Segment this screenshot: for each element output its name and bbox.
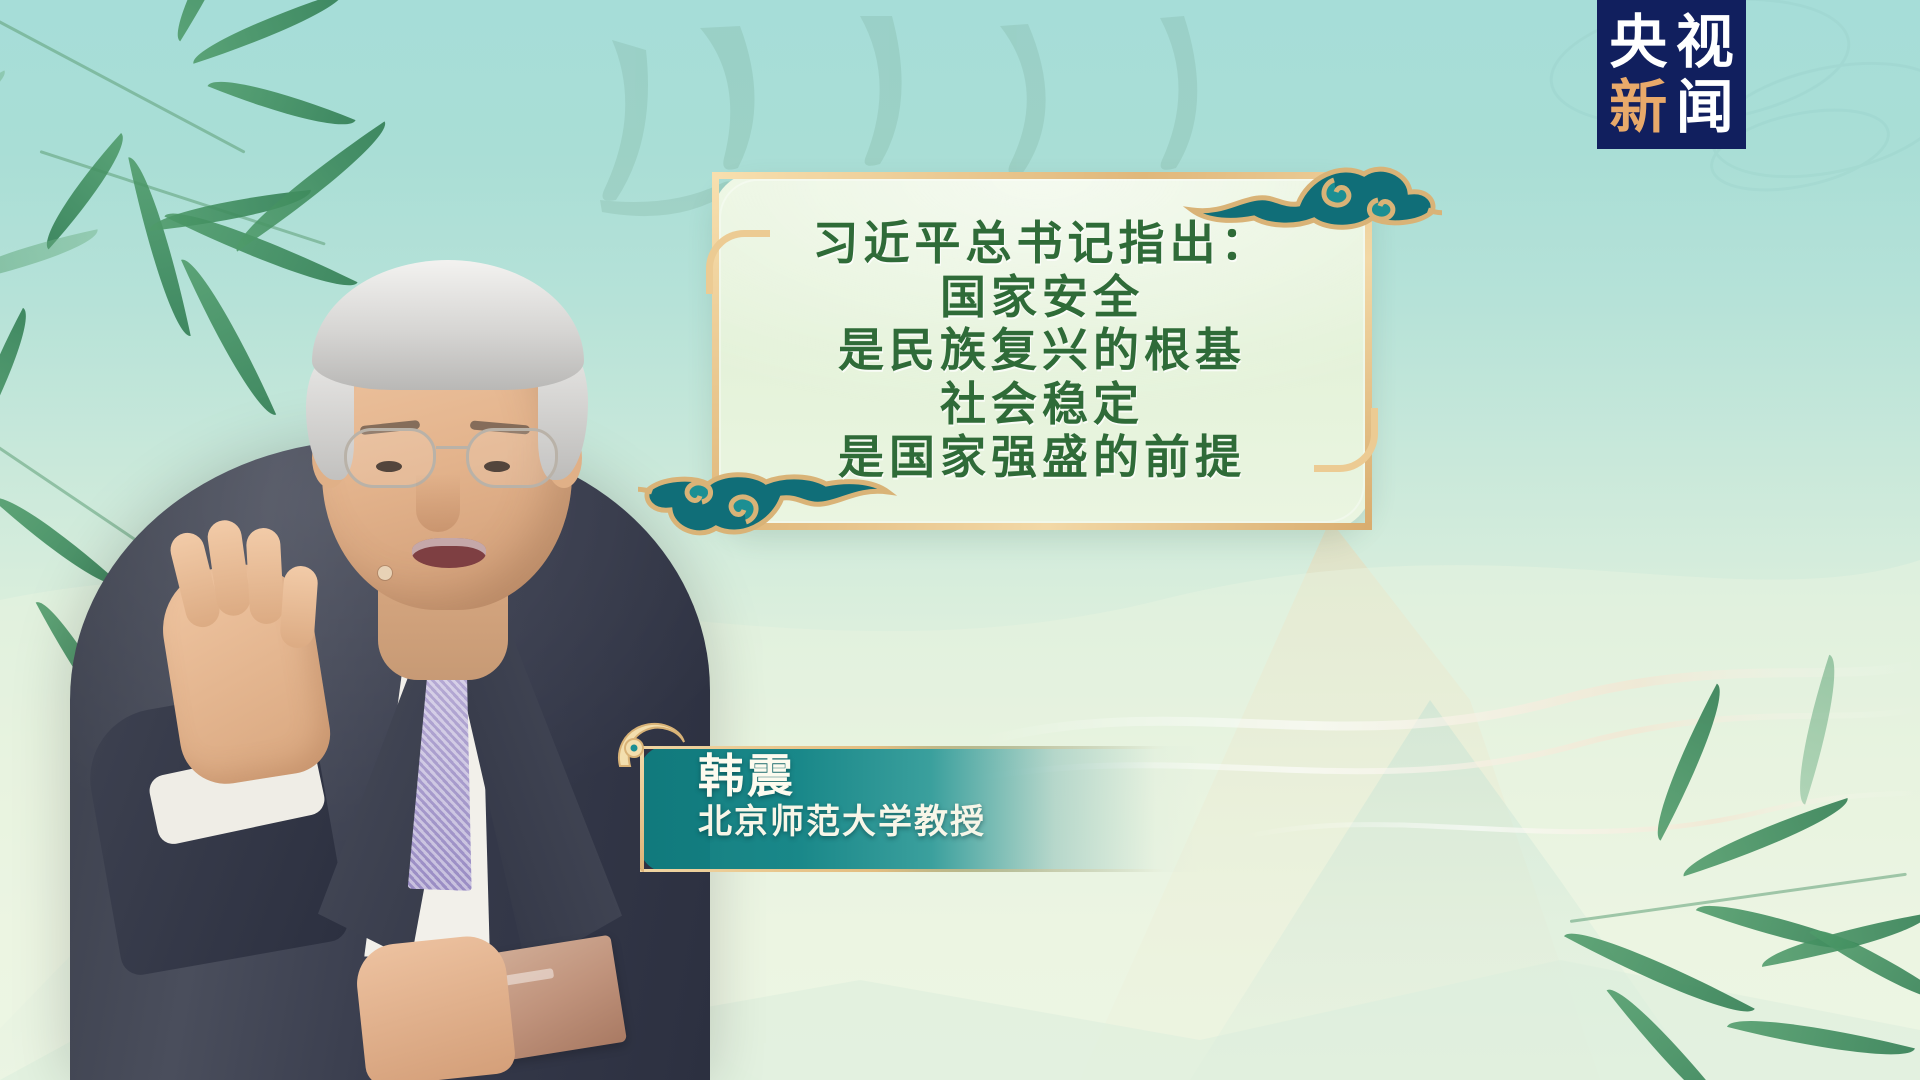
bamboo-decoration-bottom-right xyxy=(1530,700,1920,1080)
bamboo-decoration-top-left xyxy=(0,0,400,390)
cctv-news-logo: 央 视 新 闻 xyxy=(1597,0,1746,149)
quote-line-1: 习近平总书记指出： xyxy=(813,218,1272,270)
logo-char-xin: 新 xyxy=(1609,78,1667,136)
quote-line-2: 国家安全 xyxy=(940,272,1144,324)
speaker-title: 北京师范大学教授 xyxy=(698,802,986,843)
logo-char-shi: 视 xyxy=(1676,13,1734,71)
broadcast-frame: 习近平总书记指出： 国家安全 是民族复兴的根基 社会稳定 是国家强盛的前提 韩震… xyxy=(0,0,1920,1080)
logo-char-wen: 闻 xyxy=(1676,78,1734,136)
gold-swirl-icon xyxy=(614,716,686,772)
quote-panel: 习近平总书记指出： 国家安全 是民族复兴的根基 社会稳定 是国家强盛的前提 xyxy=(712,172,1372,530)
quote-line-4: 社会稳定 xyxy=(940,379,1144,431)
logo-char-yang: 央 xyxy=(1609,13,1667,71)
speaker-name: 韩震 xyxy=(698,752,986,800)
speaker-nameplate: 韩震 北京师范大学教授 xyxy=(640,746,1200,872)
nameplate-texts: 韩震 北京师范大学教授 xyxy=(698,752,986,843)
quote-line-5: 是国家强盛的前提 xyxy=(838,432,1246,484)
bamboo-decoration-left xyxy=(0,380,260,720)
speaker-portrait xyxy=(60,70,760,1080)
background-landscape xyxy=(0,0,1920,1080)
quote-line-3: 是民族复兴的根基 xyxy=(838,325,1246,377)
quote-text-block: 习近平总书记指出： 国家安全 是民族复兴的根基 社会稳定 是国家强盛的前提 xyxy=(712,172,1372,530)
